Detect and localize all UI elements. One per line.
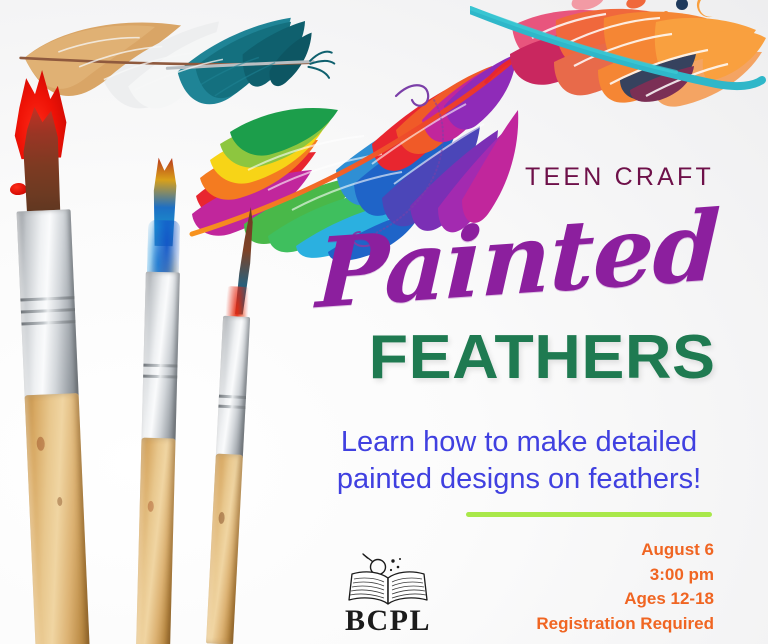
event-time: 3:00 pm: [536, 563, 714, 588]
event-registration: Registration Required: [536, 612, 714, 637]
brush-handle: [136, 438, 176, 644]
description-line-1: Learn how to make detailed: [324, 424, 714, 461]
open-book-with-magnifying-glass-icon: [336, 552, 440, 608]
brush-ferrule: [141, 272, 179, 443]
bcpl-logo: BCPL: [336, 552, 440, 640]
eyebrow-heading: TEEN CRAFT: [525, 163, 714, 192]
brush-ferrule: [216, 316, 250, 459]
logo-text: BCPL: [336, 604, 440, 638]
description-line-2: painted designs on feathers!: [324, 461, 714, 498]
event-date: August 6: [536, 538, 714, 563]
brush-handle: [25, 393, 90, 644]
brush-handle: [206, 454, 243, 644]
description-text: Learn how to make detailed painted desig…: [324, 424, 714, 498]
event-details: August 6 3:00 pm Ages 12-18 Registration…: [536, 538, 714, 637]
brush-ferrule: [17, 209, 79, 399]
main-title: FEATHERS: [369, 322, 716, 393]
green-divider: [466, 512, 712, 517]
orange-coral-feather: [470, 0, 768, 127]
medium-brush-multicolor: [136, 130, 184, 644]
event-ages: Ages 12-18: [536, 587, 714, 612]
event-poster: TEEN CRAFT Painted FEATHERS Learn how to…: [0, 0, 768, 644]
script-title: Painted: [315, 198, 721, 323]
